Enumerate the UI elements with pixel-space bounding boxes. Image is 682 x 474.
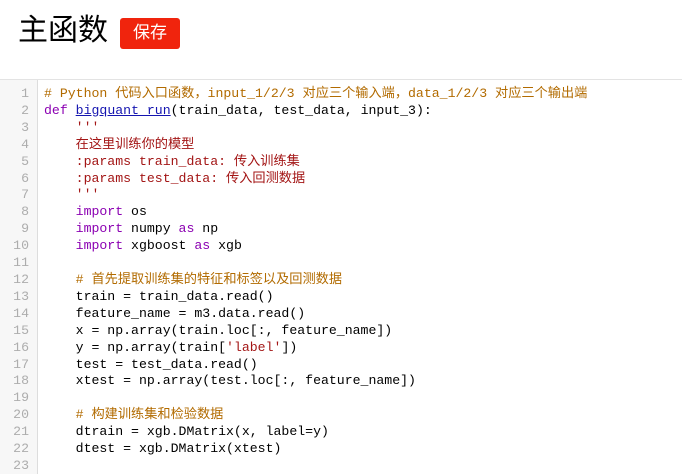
page-header: 主函数 保存: [0, 0, 682, 79]
code-line[interactable]: dtrain = xgb.DMatrix(x, label=y): [44, 424, 682, 441]
page-title: 主函数: [18, 14, 108, 48]
code-line[interactable]: feature_name = m3.data.read(): [44, 306, 682, 323]
line-number: 14: [0, 306, 37, 323]
code-token-plain: [44, 272, 76, 287]
code-line[interactable]: dtest = xgb.DMatrix(xtest): [44, 441, 682, 458]
code-token-string: 'label': [226, 340, 281, 355]
line-number: 3: [0, 120, 37, 137]
line-number: 20: [0, 407, 37, 424]
line-number: 22: [0, 441, 37, 458]
code-token-doc: ''': [44, 120, 99, 135]
code-line[interactable]: import numpy as np: [44, 221, 682, 238]
code-token-comment: # Python 代码入口函数，input_1/2/3 对应三个输入端，data…: [44, 86, 587, 101]
line-number: 21: [0, 424, 37, 441]
code-token-plain: [44, 221, 76, 236]
line-number: 17: [0, 357, 37, 374]
save-button[interactable]: 保存: [120, 18, 180, 49]
code-token-plain: xtest = np.array(test.loc[:, feature_nam…: [44, 373, 416, 388]
code-token-plain: numpy: [123, 221, 178, 236]
code-token-doc: :params train_data: 传入训练集: [44, 154, 300, 169]
code-token-keyword: import: [76, 204, 123, 219]
code-token-def: bigquant_run: [76, 103, 171, 118]
code-line[interactable]: xtest = np.array(test.loc[:, feature_nam…: [44, 373, 682, 390]
code-token-keyword: import: [76, 238, 123, 253]
line-number: 13: [0, 289, 37, 306]
code-token-plain: xgboost: [123, 238, 194, 253]
code-editor-page: 主函数 保存 123456789101112131415161718192021…: [0, 0, 682, 474]
code-token-plain: os: [123, 204, 147, 219]
code-token-plain: xgb: [210, 238, 242, 253]
code-token-plain: [44, 407, 76, 422]
code-token-plain: dtest = xgb.DMatrix(xtest): [44, 441, 281, 456]
line-number: 2: [0, 103, 37, 120]
code-line[interactable]: [44, 390, 682, 407]
code-token-plain: feature_name = m3.data.read(): [44, 306, 305, 321]
line-number: 18: [0, 373, 37, 390]
code-token-doc: :params test_data: 传入回测数据: [44, 171, 305, 186]
code-line[interactable]: x = np.array(train.loc[:, feature_name]): [44, 323, 682, 340]
line-number: 23: [0, 458, 37, 474]
code-line[interactable]: test = test_data.read(): [44, 357, 682, 374]
code-line[interactable]: # 首先提取训练集的特征和标签以及回测数据: [44, 272, 682, 289]
code-token-plain: [44, 204, 76, 219]
code-line[interactable]: 在这里训练你的模型: [44, 137, 682, 154]
code-line[interactable]: import os: [44, 204, 682, 221]
line-number: 4: [0, 137, 37, 154]
code-token-plain: np: [194, 221, 218, 236]
code-token-plain: dtrain = xgb.DMatrix(x, label=y): [44, 424, 329, 439]
code-line[interactable]: # 构建训练集和检验数据: [44, 407, 682, 424]
code-line[interactable]: [44, 255, 682, 272]
line-number: 15: [0, 323, 37, 340]
code-token-comment: # 首先提取训练集的特征和标签以及回测数据: [76, 272, 342, 287]
code-line[interactable]: ''': [44, 120, 682, 137]
line-number: 9: [0, 221, 37, 238]
line-number: 10: [0, 238, 37, 255]
code-line[interactable]: def bigquant_run(train_data, test_data, …: [44, 103, 682, 120]
code-token-doc: ''': [44, 187, 99, 202]
code-content[interactable]: # Python 代码入口函数，input_1/2/3 对应三个输入端，data…: [38, 80, 682, 474]
line-number: 8: [0, 204, 37, 221]
code-token-plain: test = test_data.read(): [44, 357, 258, 372]
code-token-plain: (train_data, test_data, input_3):: [171, 103, 432, 118]
code-token-keyword: def: [44, 103, 68, 118]
code-line[interactable]: [44, 458, 682, 474]
code-token-keyword: as: [179, 221, 195, 236]
code-token-keyword: as: [194, 238, 210, 253]
line-number: 16: [0, 340, 37, 357]
code-token-plain: [68, 103, 76, 118]
line-number: 5: [0, 154, 37, 171]
line-number: 6: [0, 171, 37, 188]
code-token-plain: ]): [281, 340, 297, 355]
code-line[interactable]: train = train_data.read(): [44, 289, 682, 306]
code-token-plain: x = np.array(train.loc[:, feature_name]): [44, 323, 392, 338]
line-number: 7: [0, 187, 37, 204]
code-line[interactable]: import xgboost as xgb: [44, 238, 682, 255]
code-line[interactable]: # Python 代码入口函数，input_1/2/3 对应三个输入端，data…: [44, 86, 682, 103]
code-token-comment: # 构建训练集和检验数据: [76, 407, 224, 422]
code-line[interactable]: y = np.array(train['label']): [44, 340, 682, 357]
code-line[interactable]: :params test_data: 传入回测数据: [44, 171, 682, 188]
code-line[interactable]: ''': [44, 187, 682, 204]
code-token-keyword: import: [76, 221, 123, 236]
code-token-doc: 在这里训练你的模型: [44, 137, 194, 152]
code-token-plain: train = train_data.read(): [44, 289, 274, 304]
code-line[interactable]: :params train_data: 传入训练集: [44, 154, 682, 171]
line-number: 1: [0, 86, 37, 103]
line-number-gutter: 1234567891011121314151617181920212223: [0, 80, 38, 474]
code-editor[interactable]: 1234567891011121314151617181920212223 # …: [0, 79, 682, 474]
line-number: 11: [0, 255, 37, 272]
line-number: 12: [0, 272, 37, 289]
code-token-plain: [44, 238, 76, 253]
code-token-plain: y = np.array(train[: [44, 340, 226, 355]
line-number: 19: [0, 390, 37, 407]
